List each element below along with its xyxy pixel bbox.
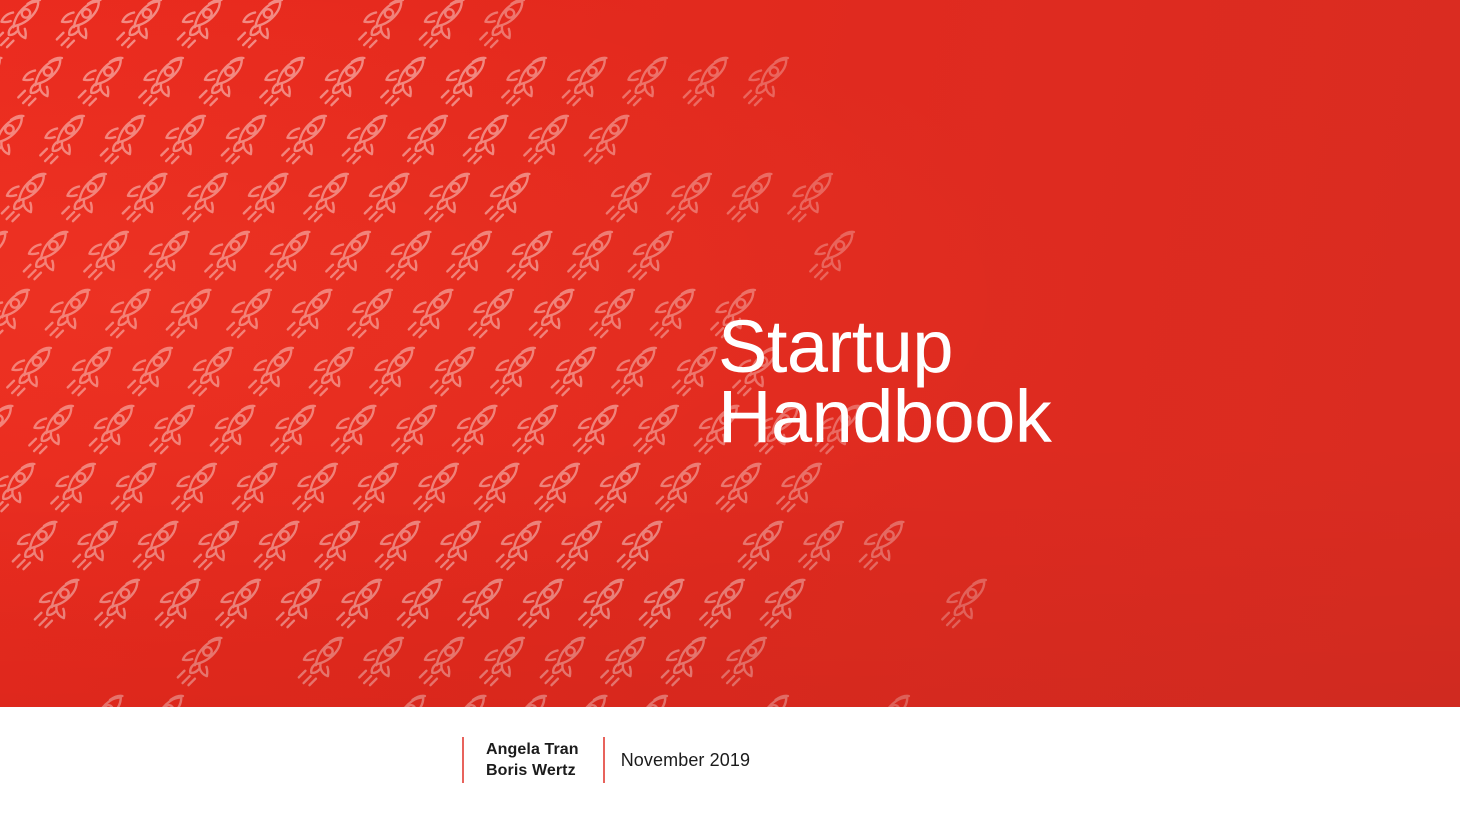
footer-divider-right	[603, 737, 605, 783]
title-line-2: Handbook	[718, 382, 1051, 452]
hero-banner: Startup Handbook	[0, 0, 1460, 707]
title-line-1: Startup	[718, 312, 1051, 382]
date-block: November 2019	[621, 737, 750, 783]
author-name-1: Angela Tran	[486, 739, 579, 760]
footer-credits: Angela Tran Boris Wertz November 2019	[462, 737, 750, 783]
footer-divider-left	[462, 737, 464, 783]
slide-root: Startup Handbook Angela Tran Boris Wertz…	[0, 0, 1460, 820]
author-name-2: Boris Wertz	[486, 760, 579, 781]
footer: Angela Tran Boris Wertz November 2019	[0, 707, 1460, 820]
date-text: November 2019	[621, 750, 750, 771]
page-title: Startup Handbook	[718, 312, 1051, 452]
author-list: Angela Tran Boris Wertz	[486, 737, 579, 783]
